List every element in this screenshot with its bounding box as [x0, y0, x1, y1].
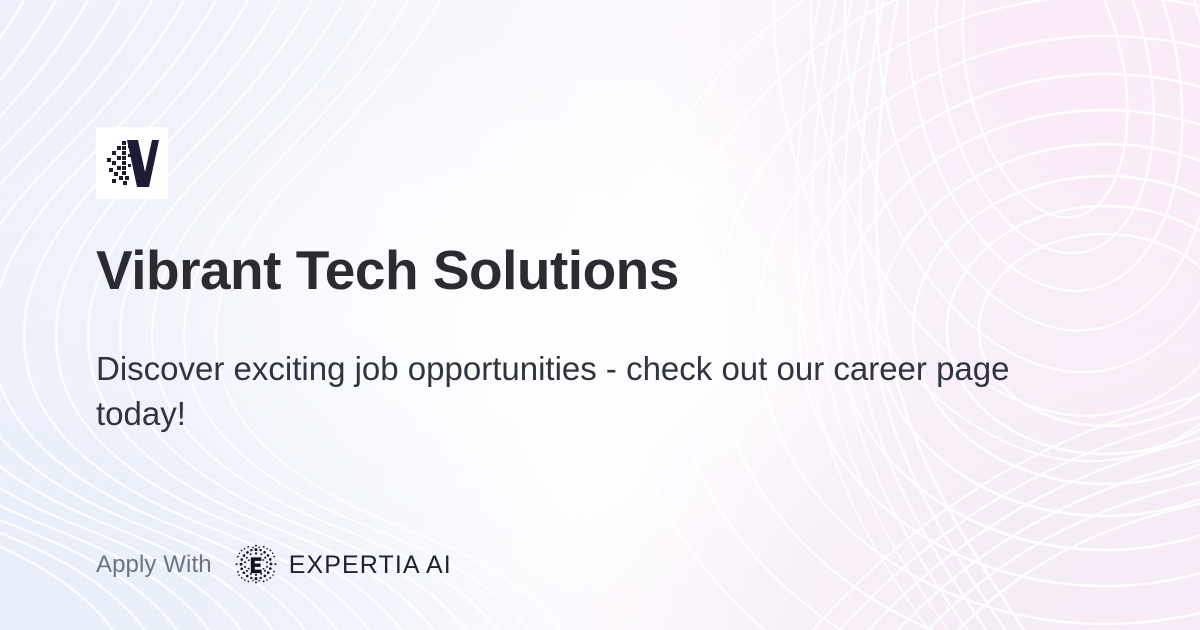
company-name: Vibrant Tech Solutions [96, 243, 679, 298]
v-letter-shape [127, 140, 159, 187]
expertia-ai-logo[interactable]: EXPERTIA AI [234, 543, 452, 587]
job-banner-card: Vibrant Tech Solutions Discover exciting… [0, 0, 1200, 630]
apply-with-label: Apply With [96, 551, 212, 579]
banner-content: Vibrant Tech Solutions Discover exciting… [96, 0, 1056, 630]
company-logo [96, 127, 168, 199]
tagline: Discover exciting job opportunities - ch… [96, 347, 1026, 437]
expertia-ai-wordmark: EXPERTIA AI [289, 551, 452, 580]
pixel-dissolve-squares [107, 141, 131, 185]
expertia-e-particle-icon [234, 543, 278, 587]
apply-with-footer: Apply With [96, 543, 452, 587]
